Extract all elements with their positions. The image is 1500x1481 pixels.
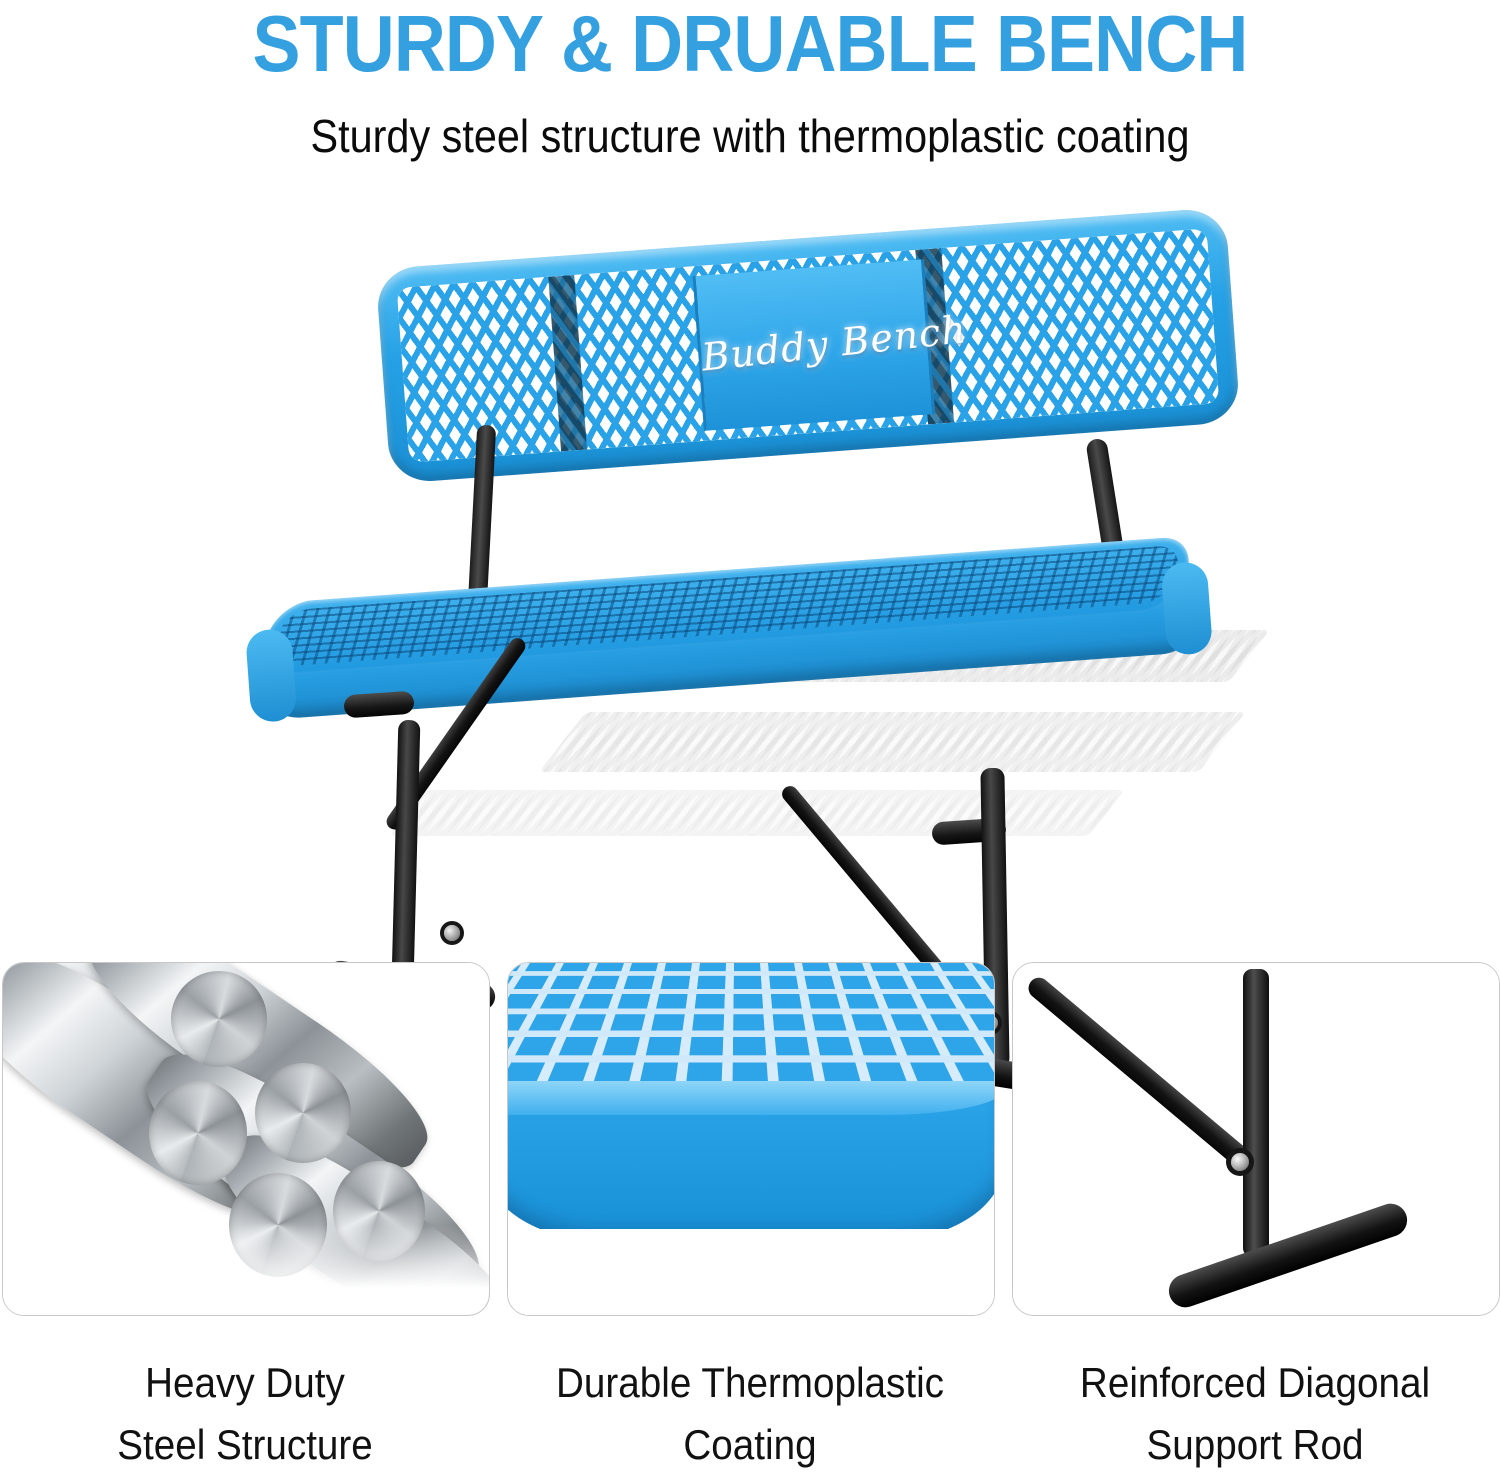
caption-line-1: Reinforced Diagonal: [1080, 1359, 1430, 1406]
shadow-band: [389, 790, 1125, 836]
closeup-seat-lip: [507, 1081, 995, 1115]
bench-nameplate: Buddy Bench: [693, 259, 936, 431]
hero-product-image: Buddy Bench: [0, 180, 1500, 960]
bench-backrest: Buddy Bench: [375, 207, 1240, 484]
caption-steel-structure: Heavy Duty Steel Structure: [21, 1352, 468, 1476]
support-rod-bolt-left: [444, 925, 460, 941]
closeup-bolt: [1231, 1153, 1249, 1171]
closeup-mesh-surface: [507, 963, 995, 1092]
caption-line-1: Heavy Duty: [145, 1359, 345, 1406]
seat-end-cap-right: [1161, 561, 1214, 656]
feature-panel-support-rod: [1012, 962, 1500, 1316]
steel-bar-end-face: [149, 1081, 247, 1185]
image-fade: [508, 1229, 994, 1315]
feature-caption-row: Heavy Duty Steel Structure Durable Therm…: [0, 1352, 1500, 1481]
steel-bars-image: [3, 963, 489, 1315]
steel-bar-end-face: [255, 1063, 351, 1163]
seat-closeup-image: [508, 963, 994, 1315]
nameplate-text: Buddy Bench: [699, 311, 928, 379]
closeup-vertical-leg: [1243, 969, 1269, 1257]
caption-line-2: Coating: [526, 1414, 973, 1476]
feature-panel-row: [0, 962, 1500, 1317]
caption-line-2: Support Rod: [1031, 1414, 1478, 1476]
support-rod-closeup-image: [1013, 963, 1499, 1315]
caption-line-1: Durable Thermoplastic: [556, 1359, 944, 1406]
closeup-t-foot: [1164, 1199, 1411, 1312]
feature-panel-thermoplastic-coating: [507, 962, 995, 1316]
closeup-diagonal-rod: [1024, 973, 1260, 1175]
steel-bar-end-face: [171, 971, 267, 1067]
caption-thermoplastic-coating: Durable Thermoplastic Coating: [526, 1352, 973, 1476]
product-infographic: STURDY & DRUABLE BENCH Sturdy steel stru…: [0, 0, 1500, 1481]
page-subheadline: Sturdy steel structure with thermoplasti…: [75, 108, 1425, 164]
seat-end-cap-left: [245, 628, 298, 723]
caption-support-rod: Reinforced Diagonal Support Rod: [1031, 1352, 1478, 1476]
caption-line-2: Steel Structure: [21, 1414, 468, 1476]
seat-cross-stub-left: [343, 691, 414, 719]
image-fade: [3, 1225, 489, 1315]
feature-panel-steel-structure: [2, 962, 490, 1316]
bench-illustration: Buddy Bench: [220, 220, 1290, 950]
page-headline: STURDY & DRUABLE BENCH: [75, 2, 1425, 86]
